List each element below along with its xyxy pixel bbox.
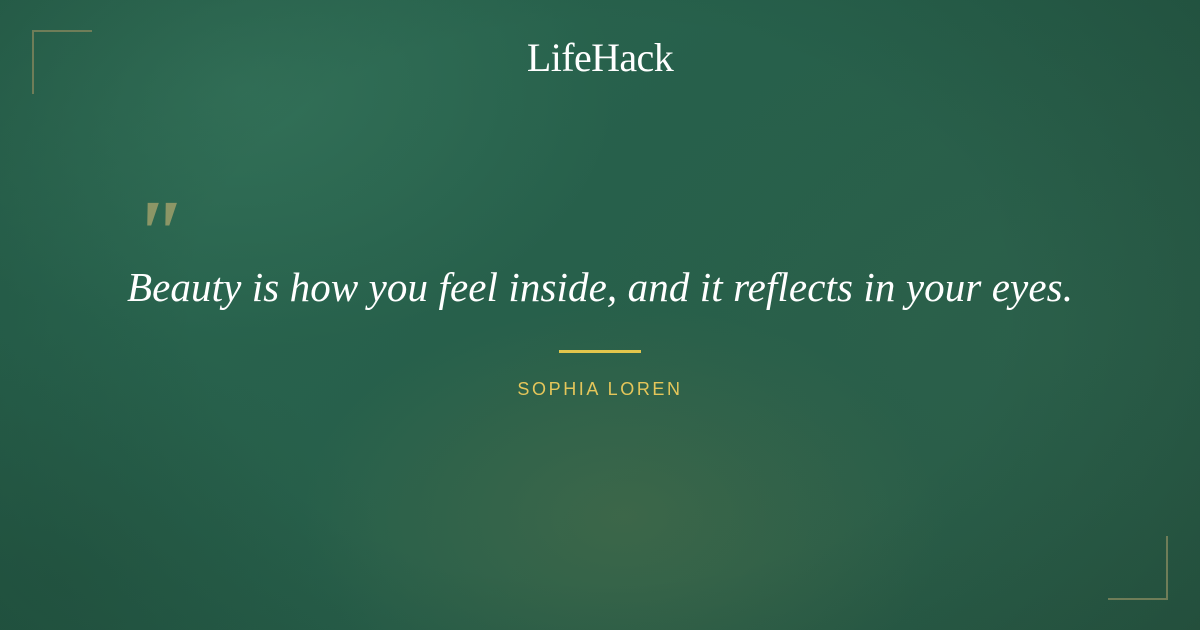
background-vignette [0, 0, 1200, 630]
quote-text: Beauty is how you feel inside, and it re… [0, 262, 1200, 313]
attribution: SOPHIA LOREN [0, 350, 1200, 398]
background-glow-bottom-center [0, 0, 1200, 630]
quote-card: LifeHack " Beauty is how you feel inside… [0, 0, 1200, 630]
corner-bracket-top-left-horizontal [32, 30, 92, 32]
background-glow-right [0, 0, 1200, 630]
corner-bracket-bottom-right-icon [1108, 536, 1168, 600]
corner-bracket-bottom-right-vertical [1166, 536, 1168, 600]
background-glow-top-left [0, 0, 1200, 630]
brand-logo: LifeHack [0, 38, 1200, 78]
attribution-divider [559, 350, 641, 353]
corner-bracket-bottom-right-horizontal [1108, 598, 1168, 600]
attribution-author: SOPHIA LOREN [0, 380, 1200, 398]
background-base [0, 0, 1200, 630]
background-glow-bottom-left [0, 0, 1200, 630]
